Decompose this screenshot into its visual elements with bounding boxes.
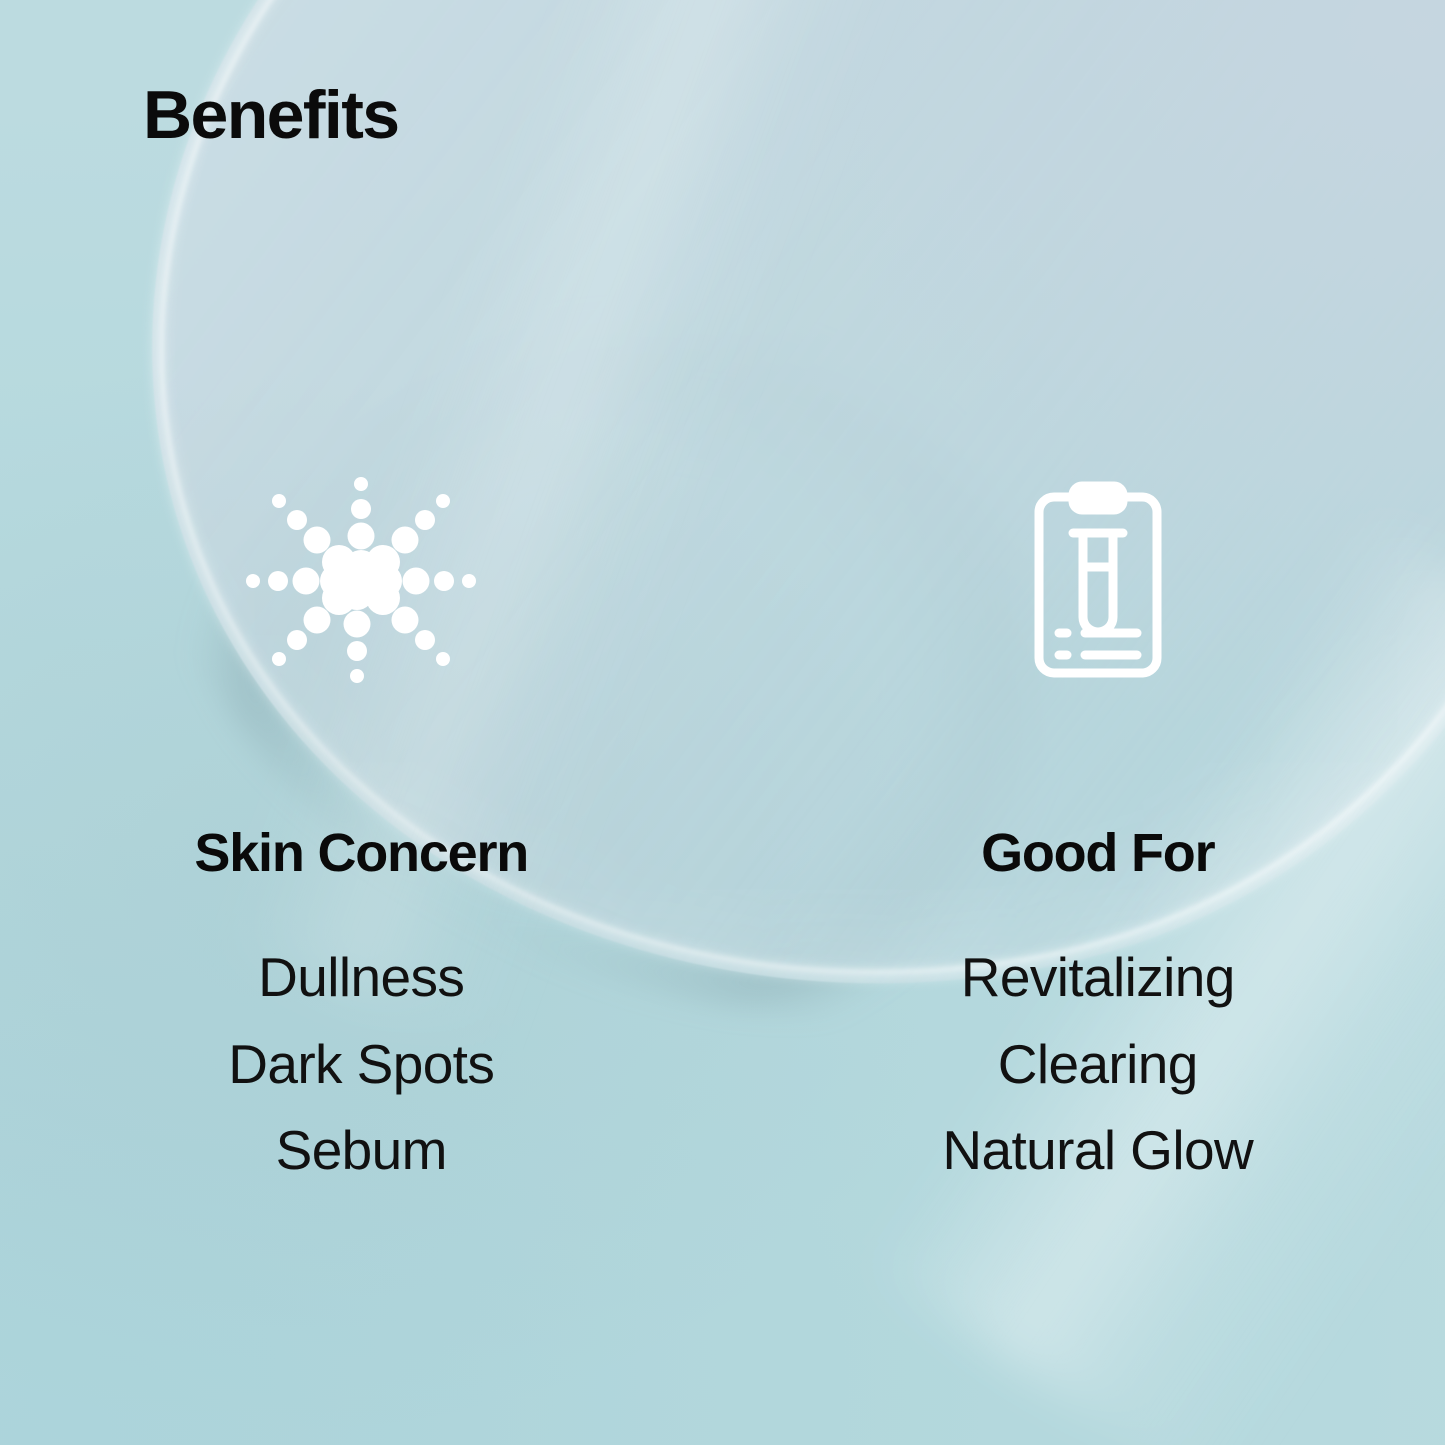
list-item: Dullness [228, 934, 494, 1021]
list-item: Sebum [228, 1107, 494, 1194]
list-item: Revitalizing [942, 934, 1253, 1021]
content-layer: Benefits [0, 0, 1445, 1445]
benefit-column-skin-concern: Skin Concern Dullness Dark Spots Sebum [0, 455, 709, 1194]
list-item: Dark Spots [228, 1021, 494, 1108]
column-heading: Good For [981, 825, 1214, 882]
benefits-infographic: Benefits [0, 0, 1445, 1445]
list-item: Natural Glow [942, 1107, 1253, 1194]
benefit-column-good-for: Good For Revitalizing Clearing Natural G… [709, 455, 1445, 1194]
benefits-columns: Skin Concern Dullness Dark Spots Sebum [0, 455, 1445, 1194]
column-heading: Skin Concern [194, 825, 528, 882]
column-list: Revitalizing Clearing Natural Glow [942, 934, 1253, 1195]
clipboard-test-tube-icon [1033, 455, 1163, 705]
page-title: Benefits [143, 80, 398, 151]
sparkle-burst-icon [247, 455, 475, 705]
list-item: Clearing [942, 1021, 1253, 1108]
column-list: Dullness Dark Spots Sebum [228, 934, 494, 1195]
